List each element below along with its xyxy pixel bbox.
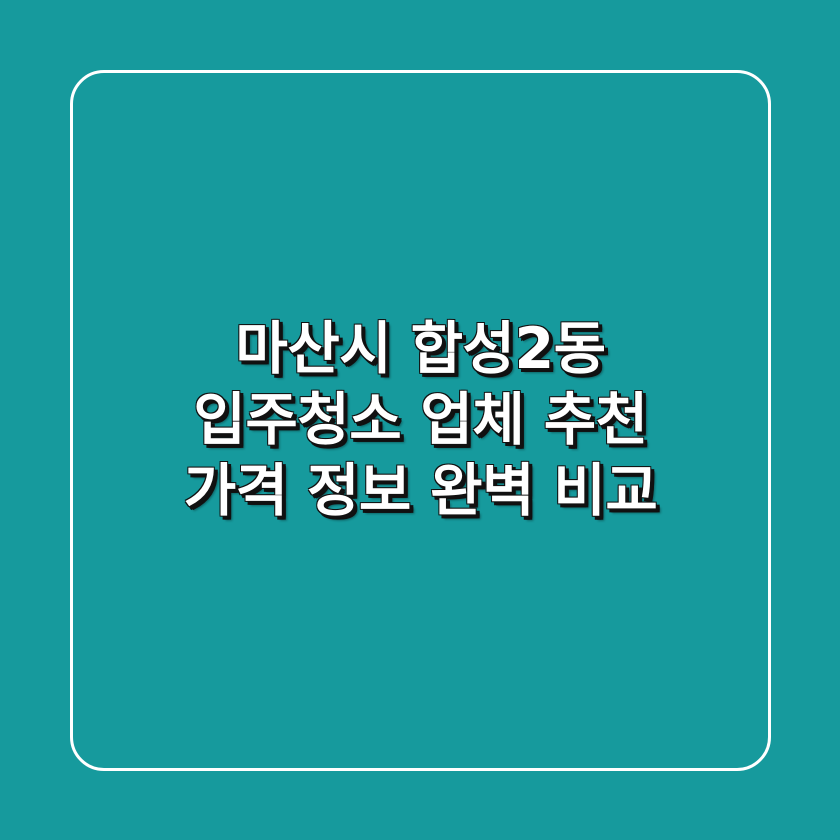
- title-line-2: 입주청소 업체 추천: [88, 385, 753, 456]
- headline-block: 마산시 합성2동 입주청소 업체 추천 가격 정보 완벽 비교: [70, 70, 771, 771]
- title-line-3: 가격 정보 완벽 비교: [88, 456, 753, 527]
- title-line-1: 마산시 합성2동: [88, 314, 753, 385]
- poster-canvas: 마산시 합성2동 입주청소 업체 추천 가격 정보 완벽 비교: [0, 0, 840, 840]
